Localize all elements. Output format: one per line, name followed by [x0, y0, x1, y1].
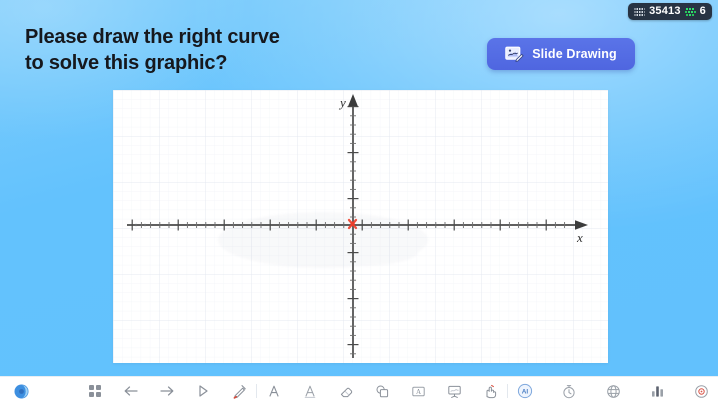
score-badge: 35413 6 — [628, 3, 712, 20]
coin-icon — [634, 7, 645, 17]
graph-watermark — [218, 212, 428, 268]
x-axis-label: x — [576, 230, 583, 245]
stopwatch-icon[interactable] — [556, 380, 582, 402]
slide-app: 35413 6 Please draw the right curve t — [0, 0, 718, 404]
score-value: 35413 — [649, 6, 681, 17]
bottom-toolbar: A AI — [0, 376, 718, 404]
text-a-icon[interactable] — [261, 380, 287, 402]
ai-assistant-icon[interactable]: AI — [512, 380, 538, 402]
timer-hand-icon[interactable] — [477, 380, 503, 402]
graph-panel[interactable]: x — [113, 90, 608, 363]
whiteboard-icon[interactable] — [441, 380, 467, 402]
bar-chart-icon[interactable] — [644, 380, 670, 402]
slide-drawing-button[interactable]: Slide Drawing — [487, 38, 635, 70]
apps-grid-icon[interactable] — [82, 380, 108, 402]
text-a-outline-icon[interactable] — [297, 380, 323, 402]
eraser-icon[interactable] — [333, 380, 359, 402]
slide-drawing-icon — [505, 46, 524, 63]
question-prompt: Please draw the right curve to solve thi… — [25, 25, 445, 76]
forward-arrow-icon[interactable] — [154, 380, 180, 402]
gem-icon — [685, 7, 696, 17]
target-icon[interactable] — [688, 380, 714, 402]
toolbar-separator-1 — [256, 384, 257, 398]
gem-count: 6 — [700, 6, 706, 17]
coordinate-plane[interactable]: x — [113, 90, 608, 363]
shapes-icon[interactable] — [369, 380, 395, 402]
toolbar-separator-2 — [507, 384, 508, 398]
slide-canvas: 35413 6 Please draw the right curve t — [0, 0, 718, 376]
svg-text:A: A — [415, 388, 420, 396]
y-axis-label: y — [338, 95, 346, 110]
slide-drawing-label: Slide Drawing — [532, 47, 617, 61]
text-box-icon[interactable]: A — [405, 380, 431, 402]
svg-text:AI: AI — [522, 389, 529, 396]
globe-icon[interactable] — [600, 380, 626, 402]
app-logo-icon[interactable] — [8, 380, 34, 402]
play-icon[interactable] — [190, 380, 216, 402]
back-arrow-icon[interactable] — [118, 380, 144, 402]
pen-icon[interactable] — [226, 380, 252, 402]
